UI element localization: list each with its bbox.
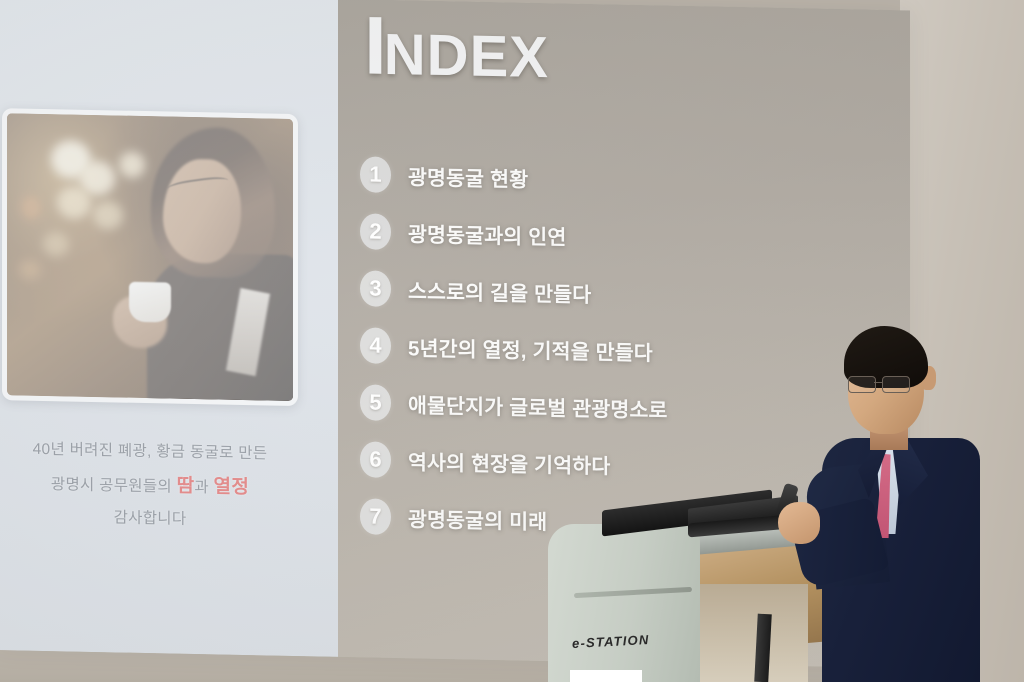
glasses-lens-left bbox=[848, 376, 876, 393]
index-item-label: 스스로의 길을 만들다 bbox=[408, 274, 591, 308]
index-number-badge: 3 bbox=[360, 270, 391, 307]
index-number-badge: 2 bbox=[360, 213, 391, 250]
photo-subject-cup bbox=[129, 282, 171, 323]
caption-highlight-passion: 열정 bbox=[214, 477, 250, 499]
index-number-badge: 5 bbox=[360, 384, 391, 421]
index-number-badge: 6 bbox=[360, 441, 391, 478]
bokeh-light bbox=[19, 260, 41, 280]
speaker-hand bbox=[778, 502, 820, 544]
bokeh-light bbox=[21, 196, 41, 220]
index-item-label: 광명동굴의 미래 bbox=[408, 502, 547, 535]
bokeh-light bbox=[93, 201, 123, 230]
caption-line-2: 광명시 공무원들의 땀과 열정 bbox=[4, 464, 296, 507]
index-number-badge: 1 bbox=[360, 156, 391, 193]
index-item-label: 5년간의 열정, 기적을 만들다 bbox=[408, 331, 653, 366]
caption-line-1: 40년 버려진 폐광, 황금 동굴로 만든 bbox=[4, 434, 296, 470]
caption-line-2-mid: 과 bbox=[194, 479, 213, 496]
slide-title-rest: NDEX bbox=[384, 22, 549, 90]
taeguk-icon bbox=[586, 678, 628, 682]
index-number-badge: 4 bbox=[360, 327, 391, 364]
lectern-vent-slot bbox=[574, 587, 692, 598]
photo-subject-face bbox=[163, 158, 241, 264]
bokeh-light bbox=[119, 152, 145, 179]
speaker-presenter bbox=[770, 326, 980, 682]
index-item-label: 애물단지가 글로벌 관광명소로 bbox=[408, 388, 668, 423]
speaker-glasses-icon bbox=[848, 376, 920, 391]
index-item-label: 광명동굴 현황 bbox=[408, 160, 528, 192]
glasses-bridge bbox=[874, 382, 882, 383]
slide-title: INDEX bbox=[364, 5, 549, 91]
glasses-lens-right bbox=[882, 376, 910, 393]
index-item-label: 역사의 현장을 기억하다 bbox=[408, 445, 610, 479]
slide-photo-card bbox=[2, 108, 298, 406]
photo-man-with-cup bbox=[7, 113, 293, 401]
lectern-side-body: e-STATION bbox=[548, 524, 700, 682]
korean-government-taeguk-logo-icon bbox=[570, 670, 642, 682]
lectern-brand-label: e-STATION bbox=[572, 632, 650, 651]
bokeh-light bbox=[57, 186, 91, 219]
caption-line-3: 감사합니다 bbox=[4, 501, 296, 537]
conference-room-scene: 40년 버려진 폐광, 황금 동굴로 만든 광명시 공무원들의 땀과 열정 감사… bbox=[0, 0, 1024, 682]
bokeh-light bbox=[43, 232, 69, 257]
caption-highlight-sweat: 땀 bbox=[177, 476, 195, 497]
index-item-label: 광명동굴과의 인연 bbox=[408, 217, 566, 250]
caption-line-2-pre: 광명시 공무원들의 bbox=[51, 476, 177, 496]
slide-caption: 40년 버려진 폐광, 황금 동굴로 만든 광명시 공무원들의 땀과 열정 감사… bbox=[4, 434, 296, 537]
index-number-badge: 7 bbox=[360, 498, 391, 535]
